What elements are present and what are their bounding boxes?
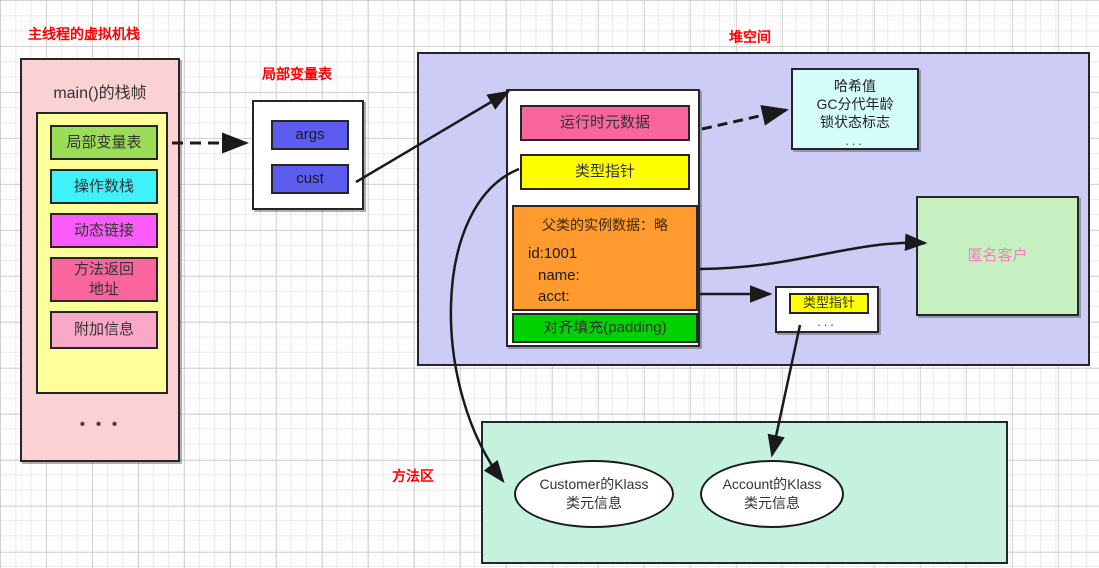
field-id: id:1001 (528, 244, 696, 264)
customer-klass-oval[interactable]: Customer的Klass 类元信息 (514, 460, 674, 528)
account-ellipsis: ... (777, 314, 877, 331)
label-thread-stack: 主线程的虚拟机栈 (28, 26, 140, 44)
klass-line-2: 类元信息 (566, 494, 622, 513)
header-detail-line-2: GC分代年龄 (793, 95, 917, 113)
klass-line-1: Account的Klass (723, 475, 822, 494)
stack-slot-local-variable-table[interactable]: 局部变量表 (50, 125, 158, 160)
stack-slot-extra-info[interactable]: 附加信息 (50, 311, 158, 349)
header-detail-ellipsis: ... (793, 133, 917, 150)
main-stack-frame: 局部变量表 操作数栈 动态链接 方法返回 地址 附加信息 (36, 112, 168, 394)
row-label: 对齐填充(padding) (543, 318, 666, 338)
local-var-name: cust (296, 169, 324, 189)
customer-type-pointer-row[interactable]: 类型指针 (520, 154, 690, 190)
stack-slot-dynamic-link[interactable]: 动态链接 (50, 213, 158, 248)
klass-line-2: 类元信息 (744, 494, 800, 513)
thread-stack-container: main()的栈帧 局部变量表 操作数栈 动态链接 方法返回 地址 附加信息 •… (20, 58, 180, 462)
label-heap: 堆空间 (729, 29, 771, 47)
string-pool-value: 匿名客户 (967, 246, 1027, 266)
local-var-slot-cust[interactable]: cust (271, 164, 349, 194)
object-header-detail-box: 哈希值 GC分代年龄 锁状态标志 ... (791, 68, 919, 150)
local-var-slot-args[interactable]: args (271, 120, 349, 150)
klass-line-1: Customer的Klass (540, 475, 649, 494)
customer-instance-container: 运行时元数据 类型指针 父类的实例数据：略 id:1001 name: acct… (506, 89, 700, 347)
account-type-pointer-row[interactable]: 类型指针 (789, 293, 869, 314)
stack-slot-label: 动态链接 (74, 221, 134, 241)
stack-slot-label: 操作数栈 (74, 177, 134, 197)
local-variable-table-container: args cust (252, 100, 364, 210)
header-detail-line-3: 锁状态标志 (793, 113, 917, 131)
stack-ellipsis: • • • (22, 415, 178, 436)
super-instance-data-note: 父类的实例数据：略 (514, 216, 696, 234)
field-name: name: (538, 266, 696, 286)
string-constant-pool-box: 匿名客户 (916, 196, 1079, 316)
account-klass-oval[interactable]: Account的Klass 类元信息 (700, 460, 844, 528)
field-acct: acct: (538, 287, 696, 307)
local-var-name: args (295, 125, 324, 145)
row-label: 运行时元数据 (560, 113, 650, 133)
stack-slot-return-address[interactable]: 方法返回 地址 (50, 257, 158, 302)
header-detail-line-1: 哈希值 (793, 77, 917, 95)
customer-instance-data-row: 父类的实例数据：略 id:1001 name: acct: (512, 205, 698, 311)
label-method-area: 方法区 (392, 468, 434, 486)
stack-frame-title: main()的栈帧 (22, 84, 178, 105)
customer-padding-row: 对齐填充(padding) (512, 313, 698, 343)
stack-slot-operand-stack[interactable]: 操作数栈 (50, 169, 158, 204)
stack-slot-label: 局部变量表 (66, 133, 141, 153)
row-label: 类型指针 (575, 162, 635, 182)
row-label: 类型指针 (803, 295, 855, 312)
label-local-variable-table: 局部变量表 (262, 66, 332, 84)
customer-runtime-metadata-row[interactable]: 运行时元数据 (520, 105, 690, 141)
stack-slot-label: 方法返回 地址 (74, 260, 134, 299)
stack-slot-label: 附加信息 (74, 320, 134, 340)
account-instance-container: 类型指针 ... (775, 286, 879, 333)
